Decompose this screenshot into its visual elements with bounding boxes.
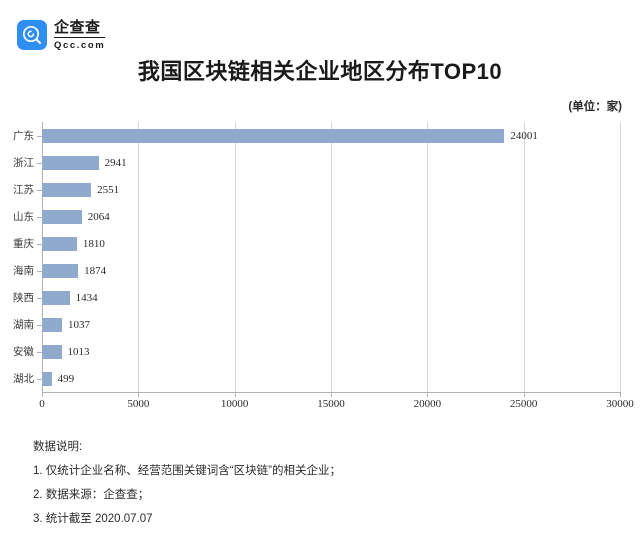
bar bbox=[42, 264, 78, 278]
qcc-logo-icon bbox=[17, 20, 47, 50]
bar-value-label: 24001 bbox=[510, 129, 538, 143]
bar-value-label: 1874 bbox=[84, 264, 106, 278]
category-label: 广东 bbox=[0, 129, 34, 143]
bar-value-label: 1810 bbox=[83, 237, 105, 251]
category-label: 陕西 bbox=[0, 291, 34, 305]
note-line: 2. 数据来源：企查查； bbox=[33, 483, 593, 507]
brand-logo: 企查查 Qcc.com bbox=[17, 20, 105, 51]
category-label: 山东 bbox=[0, 210, 34, 224]
category-label: 安徽 bbox=[0, 345, 34, 359]
bar-value-label: 1434 bbox=[76, 291, 98, 305]
bar bbox=[42, 291, 70, 305]
plot-area bbox=[42, 122, 620, 392]
bar bbox=[42, 183, 91, 197]
category-label: 湖北 bbox=[0, 372, 34, 386]
unit-label: (单位：家) bbox=[568, 98, 622, 114]
x-axis-tick bbox=[427, 392, 428, 397]
category-label: 浙江 bbox=[0, 156, 34, 170]
bar-value-label: 499 bbox=[58, 372, 75, 386]
notes-block: 数据说明: 1. 仅统计企业名称、经营范围关键词含“区块链”的相关企业；2. 数… bbox=[33, 435, 593, 531]
x-axis-tick bbox=[235, 392, 236, 397]
notes-title: 数据说明: bbox=[33, 435, 593, 459]
category-label: 海南 bbox=[0, 264, 34, 278]
bar bbox=[42, 156, 99, 170]
x-axis-tick bbox=[620, 392, 621, 397]
bar-value-label: 2941 bbox=[105, 156, 127, 170]
bar bbox=[42, 345, 62, 359]
category-label: 重庆 bbox=[0, 237, 34, 251]
x-axis-tick-label: 20000 bbox=[414, 398, 442, 410]
notes-lines: 1. 仅统计企业名称、经营范围关键词含“区块链”的相关企业；2. 数据来源：企查… bbox=[33, 459, 593, 531]
bar-value-label: 1013 bbox=[68, 345, 90, 359]
gridline bbox=[620, 122, 621, 392]
bar-value-label: 1037 bbox=[68, 318, 90, 332]
bar bbox=[42, 237, 77, 251]
brand-wordmark: 企查查 Qcc.com bbox=[54, 20, 105, 51]
x-axis-tick-label: 5000 bbox=[127, 398, 149, 410]
category-label: 江苏 bbox=[0, 183, 34, 197]
bar bbox=[42, 210, 82, 224]
note-line: 3. 统计截至 2020.07.07 bbox=[33, 507, 593, 531]
bar-chart: 广东浙江江苏山东重庆海南陕西湖南安徽湖北 0500010000150002000… bbox=[0, 118, 640, 408]
category-label: 湖南 bbox=[0, 318, 34, 332]
x-axis-tick-label: 30000 bbox=[606, 398, 634, 410]
bar bbox=[42, 318, 62, 332]
brand-name-cn: 企查查 bbox=[54, 20, 105, 38]
x-axis-tick-label: 10000 bbox=[221, 398, 249, 410]
bar-value-label: 2551 bbox=[97, 183, 119, 197]
x-axis-tick bbox=[524, 392, 525, 397]
bar bbox=[42, 129, 504, 143]
x-axis-tick-label: 15000 bbox=[317, 398, 345, 410]
brand-name-en: Qcc.com bbox=[54, 41, 105, 51]
x-axis-tick-label: 0 bbox=[39, 398, 45, 410]
x-axis-tick bbox=[138, 392, 139, 397]
note-line: 1. 仅统计企业名称、经营范围关键词含“区块链”的相关企业； bbox=[33, 459, 593, 483]
page-header: 企查查 Qcc.com 我国区块链相关企业地区分布TOP10 bbox=[0, 0, 640, 96]
bar bbox=[42, 372, 52, 386]
page-title: 我国区块链相关企业地区分布TOP10 bbox=[0, 54, 640, 86]
x-axis-tick bbox=[331, 392, 332, 397]
x-axis-tick-label: 25000 bbox=[510, 398, 538, 410]
bar-value-label: 2064 bbox=[88, 210, 110, 224]
x-axis-tick bbox=[42, 392, 43, 397]
